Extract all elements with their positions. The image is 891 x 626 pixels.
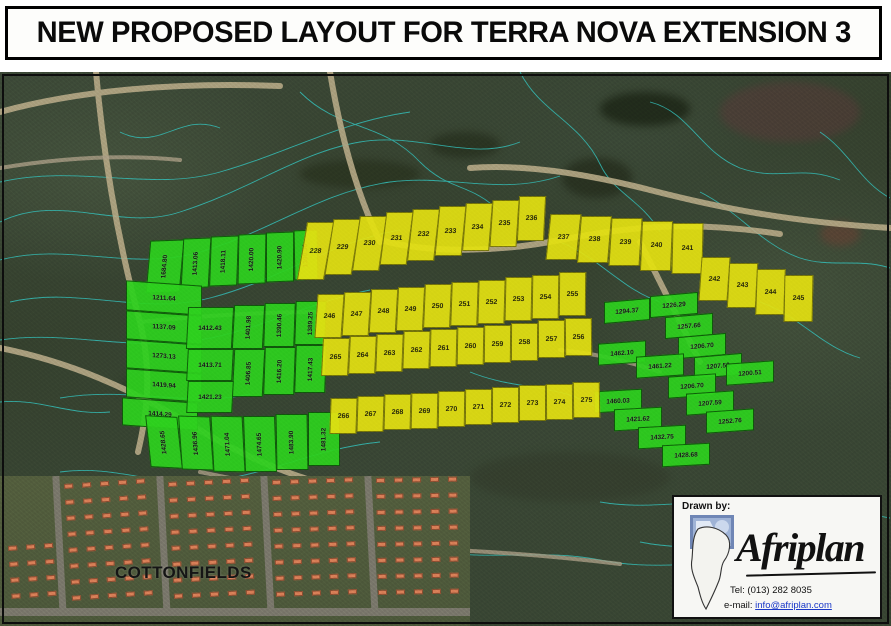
drawn-by-logo-box: Drawn by: Afriplan Tel: (013) 282 8035 e… bbox=[672, 495, 882, 619]
green-parcel[interactable]: 1428.68 bbox=[662, 443, 710, 468]
house-roof bbox=[139, 526, 148, 532]
yellow-stand[interactable]: 254 bbox=[532, 275, 560, 319]
parcel-area-label: 1226.29 bbox=[662, 300, 686, 309]
house-roof bbox=[275, 576, 284, 581]
house-roof bbox=[174, 593, 183, 598]
email-label: e-mail: bbox=[724, 600, 753, 611]
house-roof bbox=[376, 494, 385, 499]
house-roof bbox=[378, 574, 387, 579]
stand-number: 258 bbox=[519, 338, 531, 345]
house-roof bbox=[47, 591, 56, 597]
yellow-stand[interactable]: 265 bbox=[321, 338, 350, 376]
yellow-stand[interactable]: 247 bbox=[342, 292, 372, 336]
house-roof bbox=[11, 593, 20, 599]
house-roof bbox=[192, 592, 201, 597]
house-roof bbox=[377, 510, 386, 515]
house-roof bbox=[118, 480, 127, 486]
green-parcel[interactable]: 1412.43 bbox=[186, 307, 234, 349]
house-roof bbox=[90, 594, 99, 600]
house-roof bbox=[377, 526, 386, 531]
green-parcel[interactable]: 1390.46 bbox=[263, 303, 296, 347]
house-roof bbox=[347, 573, 356, 578]
stand-number: 268 bbox=[392, 409, 404, 416]
house-roof bbox=[83, 498, 92, 504]
house-roof bbox=[430, 493, 439, 498]
house-roof bbox=[414, 589, 423, 594]
house-roof bbox=[348, 589, 357, 594]
house-roof bbox=[345, 493, 354, 498]
parcel-area-label: 1413.71 bbox=[198, 362, 222, 369]
house-roof bbox=[223, 495, 232, 500]
parcel-area-label: 1257.66 bbox=[677, 321, 701, 330]
yellow-stand[interactable]: 257 bbox=[538, 320, 565, 358]
house-roof bbox=[225, 543, 234, 548]
house-roof bbox=[432, 589, 441, 594]
house-roof bbox=[101, 497, 110, 503]
parcel-area-label: 1206.70 bbox=[690, 341, 714, 350]
house-roof bbox=[100, 481, 109, 487]
parcel-area-label: 1206.70 bbox=[680, 382, 704, 391]
house-roof bbox=[292, 527, 301, 532]
yellow-stand[interactable]: 256 bbox=[565, 318, 592, 356]
house-roof bbox=[431, 509, 440, 514]
house-roof bbox=[395, 510, 404, 515]
parcel-area-label: 1428.68 bbox=[674, 451, 698, 459]
house-roof bbox=[10, 577, 19, 583]
stand-number: 264 bbox=[356, 351, 368, 358]
yellow-stand[interactable]: 248 bbox=[369, 289, 398, 333]
stand-number: 259 bbox=[492, 340, 504, 347]
stand-number: 269 bbox=[419, 407, 431, 414]
green-parcel[interactable]: 1294.37 bbox=[604, 298, 650, 324]
stand-number: 246 bbox=[323, 313, 335, 320]
stand-number: 262 bbox=[411, 347, 423, 354]
stand-number: 250 bbox=[432, 303, 444, 310]
parcel-area-label: 1432.75 bbox=[650, 433, 674, 441]
drawn-by-label: Drawn by: bbox=[682, 501, 730, 512]
green-parcel[interactable]: 1200.51 bbox=[726, 360, 774, 385]
parcel-area-label: 1420.90 bbox=[276, 245, 283, 269]
house-roof bbox=[309, 494, 318, 499]
house-roof bbox=[189, 544, 198, 549]
house-roof bbox=[171, 529, 180, 534]
house-roof bbox=[222, 479, 231, 484]
house-roof bbox=[396, 590, 405, 595]
house-roof bbox=[126, 591, 135, 597]
house-roof bbox=[72, 595, 81, 601]
house-roof bbox=[207, 544, 216, 549]
yellow-stand[interactable]: 255 bbox=[559, 272, 586, 316]
stand-number: 233 bbox=[444, 228, 456, 235]
stand-number: 248 bbox=[377, 308, 389, 315]
parcel-area-label: 1420.00 bbox=[248, 247, 255, 271]
house-roof bbox=[449, 509, 458, 514]
house-roof bbox=[413, 557, 422, 562]
stand-number: 251 bbox=[459, 301, 471, 308]
house-roof bbox=[242, 526, 251, 531]
township-street bbox=[0, 608, 470, 616]
house-roof bbox=[136, 478, 145, 484]
house-roof bbox=[328, 542, 337, 547]
house-roof bbox=[65, 499, 74, 505]
house-roof bbox=[394, 494, 403, 499]
parcel-area-label: 1413.06 bbox=[192, 251, 200, 275]
stand-number: 229 bbox=[336, 243, 349, 250]
house-roof bbox=[328, 526, 337, 531]
house-roof bbox=[108, 593, 117, 599]
house-roof bbox=[309, 510, 318, 515]
parcel-area-label: 1389.25 bbox=[307, 311, 315, 335]
stand-number: 263 bbox=[384, 349, 396, 356]
house-roof bbox=[413, 541, 422, 546]
yellow-stand[interactable]: 252 bbox=[477, 280, 505, 324]
house-roof bbox=[346, 525, 355, 530]
yellow-stand[interactable]: 262 bbox=[402, 331, 430, 369]
green-parcel[interactable]: 1474.65 bbox=[243, 416, 277, 472]
house-roof bbox=[9, 561, 18, 567]
yellow-stand[interactable]: 234 bbox=[462, 203, 493, 251]
parcel-area-label: 1421.23 bbox=[198, 394, 222, 401]
house-roof bbox=[329, 574, 338, 579]
yellow-stand[interactable]: 274 bbox=[546, 384, 573, 420]
stand-number: 228 bbox=[309, 248, 322, 255]
yellow-stand[interactable]: 240 bbox=[640, 221, 673, 271]
house-roof bbox=[28, 576, 37, 582]
house-roof bbox=[188, 529, 197, 534]
yellow-stand[interactable]: 260 bbox=[457, 327, 485, 365]
house-roof bbox=[242, 510, 251, 515]
house-roof bbox=[396, 574, 405, 579]
yellow-stand[interactable]: 261 bbox=[430, 329, 458, 367]
house-roof bbox=[240, 478, 249, 483]
house-roof bbox=[228, 591, 237, 596]
parcel-area-label: 1461.22 bbox=[648, 362, 672, 371]
yellow-stand[interactable]: 269 bbox=[411, 393, 439, 429]
parcel-area-label: 1483.90 bbox=[288, 430, 295, 454]
parcel-area-label: 1462.10 bbox=[610, 349, 634, 358]
house-roof bbox=[450, 589, 459, 594]
house-roof bbox=[85, 530, 94, 536]
house-roof bbox=[344, 477, 353, 482]
stand-number: 249 bbox=[404, 305, 416, 312]
yellow-stand[interactable]: 241 bbox=[671, 223, 703, 274]
house-roof bbox=[312, 590, 321, 595]
cottonfields-township bbox=[0, 476, 470, 626]
parcel-area-label: 1211.64 bbox=[152, 294, 175, 303]
stand-number: 243 bbox=[736, 282, 748, 289]
layout-plan-page: NEW PROPOSED LAYOUT FOR TERRA NOVA EXTEN… bbox=[0, 0, 891, 626]
stand-number: 230 bbox=[363, 239, 376, 246]
house-roof bbox=[44, 543, 53, 549]
house-roof bbox=[206, 528, 215, 533]
parcel-area-label: 1390.46 bbox=[276, 313, 284, 337]
house-roof bbox=[205, 496, 214, 501]
house-roof bbox=[29, 592, 38, 598]
stand-number: 256 bbox=[573, 334, 585, 341]
parcel-area-label: 1418.11 bbox=[220, 249, 228, 272]
parcel-area-label: 1137.09 bbox=[152, 323, 175, 332]
green-parcel[interactable]: 1420.00 bbox=[238, 234, 267, 285]
email-text: e-mail: info@afriplan.com bbox=[724, 600, 832, 611]
stand-number: 237 bbox=[557, 234, 569, 241]
house-roof bbox=[84, 514, 93, 520]
house-roof bbox=[121, 527, 130, 533]
parcel-area-label: 1200.51 bbox=[738, 369, 762, 378]
yellow-stand[interactable]: 244 bbox=[755, 269, 786, 315]
yellow-stand[interactable]: 235 bbox=[489, 200, 519, 247]
house-roof bbox=[311, 558, 320, 563]
yellow-stand[interactable]: 273 bbox=[519, 385, 546, 421]
yellow-stand[interactable]: 246 bbox=[314, 294, 344, 338]
house-roof bbox=[138, 510, 147, 516]
house-roof bbox=[8, 545, 17, 551]
house-roof bbox=[310, 542, 319, 547]
house-roof bbox=[67, 531, 76, 537]
stand-number: 274 bbox=[554, 398, 566, 405]
yellow-stand[interactable]: 251 bbox=[450, 282, 479, 326]
house-roof bbox=[414, 573, 423, 578]
yellow-stand[interactable]: 245 bbox=[784, 275, 814, 322]
house-roof bbox=[82, 482, 91, 488]
yellow-stand[interactable]: 264 bbox=[348, 336, 377, 374]
green-parcel[interactable]: 1461.22 bbox=[636, 353, 684, 378]
green-parcel[interactable]: 1413.71 bbox=[186, 349, 234, 381]
stand-number: 232 bbox=[417, 231, 429, 238]
house-roof bbox=[432, 573, 441, 578]
stand-number: 240 bbox=[651, 242, 663, 249]
house-roof bbox=[46, 575, 55, 581]
house-roof bbox=[347, 557, 356, 562]
green-parcel[interactable]: 1428.65 bbox=[145, 415, 183, 469]
house-roof bbox=[206, 512, 215, 517]
house-roof bbox=[64, 483, 73, 489]
house-roof bbox=[204, 480, 213, 485]
house-roof bbox=[431, 525, 440, 530]
stand-number: 270 bbox=[446, 405, 458, 412]
stand-number: 255 bbox=[567, 291, 579, 298]
house-roof bbox=[45, 559, 54, 565]
parcel-area-label: 1252.76 bbox=[718, 417, 742, 426]
stand-number: 238 bbox=[588, 236, 600, 243]
house-roof bbox=[168, 482, 177, 487]
stand-number: 266 bbox=[338, 413, 350, 420]
telephone-text: Tel: (013) 282 8035 bbox=[730, 585, 812, 596]
house-roof bbox=[311, 574, 320, 579]
house-roof bbox=[431, 541, 440, 546]
stand-number: 234 bbox=[471, 223, 483, 230]
green-parcel[interactable]: 1406.85 bbox=[232, 349, 266, 397]
parcel-area-label: 1412.43 bbox=[198, 325, 222, 332]
house-roof bbox=[378, 590, 387, 595]
house-roof bbox=[345, 509, 354, 514]
house-roof bbox=[188, 513, 197, 518]
house-roof bbox=[122, 543, 131, 549]
house-roof bbox=[275, 560, 284, 565]
house-roof bbox=[68, 547, 77, 553]
stand-number: 235 bbox=[498, 219, 510, 226]
house-roof bbox=[224, 511, 233, 516]
yellow-stand[interactable]: 259 bbox=[484, 325, 511, 363]
house-roof bbox=[105, 561, 114, 567]
stand-number: 253 bbox=[513, 296, 525, 303]
parcel-area-label: 1421.62 bbox=[626, 415, 650, 423]
house-roof bbox=[291, 511, 300, 516]
house-roof bbox=[104, 545, 113, 551]
parcel-area-label: 1416.20 bbox=[276, 359, 284, 383]
house-roof bbox=[169, 498, 178, 503]
yellow-stand[interactable]: 272 bbox=[492, 387, 519, 423]
yellow-stand[interactable]: 239 bbox=[608, 218, 642, 266]
parcel-area-label: 1471.04 bbox=[224, 432, 232, 456]
house-roof bbox=[119, 496, 128, 502]
house-roof bbox=[274, 528, 283, 533]
parcel-area-label: 1401.98 bbox=[244, 315, 252, 339]
parcel-area-label: 1207.59 bbox=[698, 399, 722, 408]
parcel-area-label: 1684.80 bbox=[160, 255, 169, 279]
house-roof bbox=[243, 542, 252, 547]
house-roof bbox=[308, 478, 317, 483]
house-roof bbox=[412, 477, 421, 482]
stand-number: 244 bbox=[765, 289, 777, 296]
house-roof bbox=[120, 512, 129, 518]
house-roof bbox=[326, 478, 335, 483]
house-roof bbox=[395, 542, 404, 547]
stand-number: 265 bbox=[329, 354, 341, 361]
yellow-stand[interactable]: 275 bbox=[573, 382, 600, 418]
afriplan-brand: Afriplan bbox=[736, 519, 878, 575]
yellow-stand[interactable]: 263 bbox=[375, 334, 403, 372]
house-roof bbox=[144, 590, 153, 596]
yellow-stand[interactable]: 243 bbox=[727, 263, 758, 308]
yellow-stand[interactable]: 266 bbox=[329, 398, 357, 434]
house-roof bbox=[276, 592, 285, 597]
stand-number: 267 bbox=[365, 411, 377, 418]
plan-title-bar: NEW PROPOSED LAYOUT FOR TERRA NOVA EXTEN… bbox=[5, 6, 882, 60]
parcel-area-label: 1436.96 bbox=[192, 431, 201, 455]
house-roof bbox=[291, 495, 300, 500]
parcel-area-label: 1417.43 bbox=[307, 357, 315, 381]
house-roof bbox=[273, 496, 282, 501]
house-roof bbox=[330, 590, 339, 595]
house-roof bbox=[448, 493, 457, 498]
stand-number: 261 bbox=[438, 345, 450, 352]
house-roof bbox=[430, 477, 439, 482]
house-roof bbox=[327, 510, 336, 515]
stand-number: 245 bbox=[793, 295, 805, 302]
house-roof bbox=[103, 529, 112, 535]
house-roof bbox=[377, 558, 386, 563]
green-parcel[interactable]: 1418.11 bbox=[209, 236, 239, 287]
stand-number: 252 bbox=[486, 298, 498, 305]
house-roof bbox=[272, 480, 281, 485]
green-parcel[interactable]: 1421.23 bbox=[186, 381, 234, 413]
house-roof bbox=[137, 494, 146, 500]
stand-number: 254 bbox=[540, 293, 552, 300]
house-roof bbox=[395, 526, 404, 531]
green-parcel[interactable]: 1401.98 bbox=[232, 305, 265, 349]
house-roof bbox=[431, 557, 440, 562]
yellow-stand[interactable]: 271 bbox=[465, 389, 492, 425]
yellow-stand[interactable]: 236 bbox=[517, 196, 546, 241]
house-roof bbox=[377, 542, 386, 547]
green-parcel[interactable]: 1416.20 bbox=[263, 347, 296, 395]
stand-number: 247 bbox=[350, 310, 362, 317]
yellow-stand[interactable]: 270 bbox=[438, 391, 466, 427]
stand-number: 231 bbox=[390, 235, 403, 242]
green-parcel[interactable]: 1483.90 bbox=[276, 414, 309, 470]
stand-number: 273 bbox=[527, 400, 539, 407]
house-roof bbox=[273, 512, 282, 517]
house-roof bbox=[327, 494, 336, 499]
stand-number: 242 bbox=[708, 276, 720, 283]
house-roof bbox=[171, 545, 180, 550]
green-parcel[interactable]: 1436.96 bbox=[178, 415, 214, 470]
parcel-area-label: 1481.32 bbox=[321, 427, 328, 451]
green-parcel[interactable]: 1413.06 bbox=[181, 238, 212, 289]
house-roof bbox=[88, 562, 97, 568]
yellow-stand[interactable]: 253 bbox=[505, 277, 533, 321]
parcel-area-label: 1294.37 bbox=[615, 306, 639, 315]
house-roof bbox=[450, 573, 459, 578]
stand-number: 239 bbox=[619, 239, 631, 246]
green-parcel[interactable]: 1420.90 bbox=[266, 232, 294, 283]
yellow-stand[interactable]: 268 bbox=[384, 394, 412, 430]
house-roof bbox=[376, 478, 385, 483]
house-roof bbox=[329, 558, 338, 563]
house-roof bbox=[310, 526, 319, 531]
stand-number: 257 bbox=[546, 336, 558, 343]
email-link[interactable]: info@afriplan.com bbox=[755, 600, 832, 611]
house-roof bbox=[346, 541, 355, 546]
house-roof bbox=[187, 497, 196, 502]
yellow-stand[interactable]: 258 bbox=[511, 323, 538, 361]
parcel-area-label: 1428.65 bbox=[159, 430, 169, 454]
house-roof bbox=[413, 525, 422, 530]
house-roof bbox=[71, 579, 80, 585]
house-roof bbox=[412, 493, 421, 498]
house-roof bbox=[449, 525, 458, 530]
house-roof bbox=[294, 591, 303, 596]
parcel-area-label: 1406.85 bbox=[244, 361, 252, 385]
house-roof bbox=[395, 558, 404, 563]
house-roof bbox=[224, 527, 233, 532]
stand-number: 241 bbox=[682, 245, 694, 252]
house-roof bbox=[89, 578, 98, 584]
parcel-area-label: 1460.03 bbox=[606, 397, 630, 405]
page-title: NEW PROPOSED LAYOUT FOR TERRA NOVA EXTEN… bbox=[36, 16, 850, 50]
stand-number: 275 bbox=[581, 396, 593, 403]
house-roof bbox=[210, 591, 219, 596]
house-roof bbox=[27, 560, 36, 566]
stand-number: 260 bbox=[465, 343, 477, 350]
yellow-stand[interactable]: 249 bbox=[396, 287, 425, 331]
house-roof bbox=[293, 575, 302, 580]
house-roof bbox=[449, 541, 458, 546]
yellow-stand[interactable]: 237 bbox=[546, 214, 582, 260]
house-roof bbox=[66, 515, 75, 521]
yellow-stand[interactable]: 242 bbox=[698, 257, 730, 301]
house-roof bbox=[394, 478, 403, 483]
house-roof bbox=[186, 481, 195, 486]
yellow-stand[interactable]: 267 bbox=[356, 396, 384, 432]
house-roof bbox=[448, 477, 457, 482]
house-roof bbox=[70, 563, 79, 569]
yellow-stand[interactable]: 250 bbox=[423, 284, 452, 328]
green-parcel[interactable]: 1471.04 bbox=[211, 416, 246, 473]
green-parcel[interactable]: 1252.76 bbox=[706, 408, 754, 433]
house-roof bbox=[293, 559, 302, 564]
yellow-stand[interactable]: 238 bbox=[577, 216, 612, 263]
